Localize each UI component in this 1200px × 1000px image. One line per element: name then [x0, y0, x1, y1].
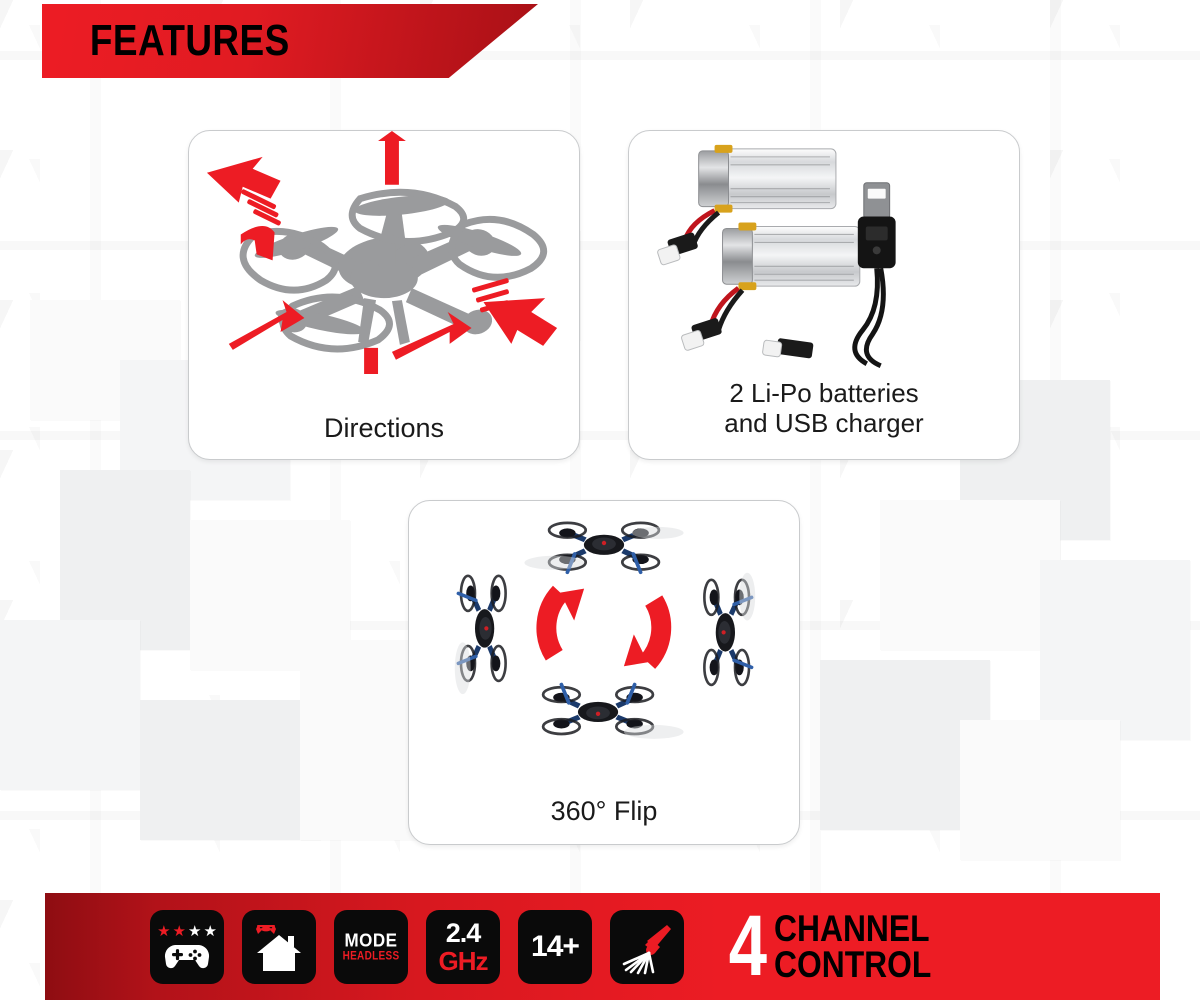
mini-drone-icon: [256, 925, 276, 934]
feature-card-flip: 360° Flip: [408, 500, 800, 845]
badge-frequency-value: 2.4: [446, 920, 481, 947]
light-rays: [624, 953, 653, 973]
led-light-icon: [618, 918, 676, 976]
gamepad-icon: [164, 942, 210, 969]
led-lamp-shape: [645, 925, 671, 955]
card-caption-battery-line2: and USB charger: [629, 408, 1019, 439]
rotation-arrows: [546, 593, 661, 663]
badge-remote-control: ★ ★ ★ ★: [150, 910, 224, 984]
badge-headless-bottom-label: HEADLESS: [343, 951, 400, 963]
badge-led-lights: [610, 910, 684, 984]
star-empty-icon: ★: [188, 924, 201, 939]
badge-age-label: 14+: [531, 932, 579, 962]
feature-page: FEATURES: [0, 0, 1200, 1000]
star-rating: ★ ★ ★ ★: [157, 924, 217, 939]
spec-bar: ★ ★ ★ ★: [45, 893, 1160, 1000]
badge-headless-top-label: MODE: [345, 931, 398, 950]
battery-pack-2: [681, 223, 860, 352]
star-empty-icon: ★: [203, 924, 216, 939]
rotation-arrow-heads: [560, 589, 648, 667]
channel-control-block: 4 CHANNEL CONTROL: [724, 911, 957, 982]
lipo-batteries-and-usb-charger-photo: [629, 131, 1019, 374]
channel-label-line1: CHANNEL: [774, 911, 931, 947]
badge-frequency-unit: GHz: [439, 948, 488, 974]
badge-indoor-flight: [242, 910, 316, 984]
features-header-banner: FEATURES: [42, 4, 538, 78]
house-with-drone-icon: [251, 919, 307, 975]
badge-headless-mode: MODE HEADLESS: [334, 910, 408, 984]
chimney-shape: [288, 936, 294, 947]
channel-control-label: CHANNEL CONTROL: [774, 911, 957, 982]
card-caption-battery-line1: 2 Li-Po batteries: [629, 378, 1019, 409]
drone-360-flip-illustration: [409, 501, 799, 755]
house-shape: [257, 935, 301, 971]
page-title: FEATURES: [42, 16, 290, 66]
channel-count: 4: [729, 911, 767, 982]
drone-directions-illustration: [189, 131, 579, 374]
star-filled-icon: ★: [157, 924, 170, 939]
badge-frequency: 2.4 GHz: [426, 910, 500, 984]
badge-age-rating: 14+: [518, 910, 592, 984]
feature-card-battery: 2 Li-Po batteries and USB charger: [628, 130, 1020, 460]
card-caption-battery: 2 Li-Po batteries and USB charger: [629, 378, 1019, 439]
card-caption-flip: 360° Flip: [409, 796, 799, 828]
channel-label-line2: CONTROL: [774, 947, 931, 983]
card-caption-directions: Directions: [189, 413, 579, 445]
feature-card-directions: Directions: [188, 130, 580, 460]
star-filled-icon: ★: [173, 924, 186, 939]
